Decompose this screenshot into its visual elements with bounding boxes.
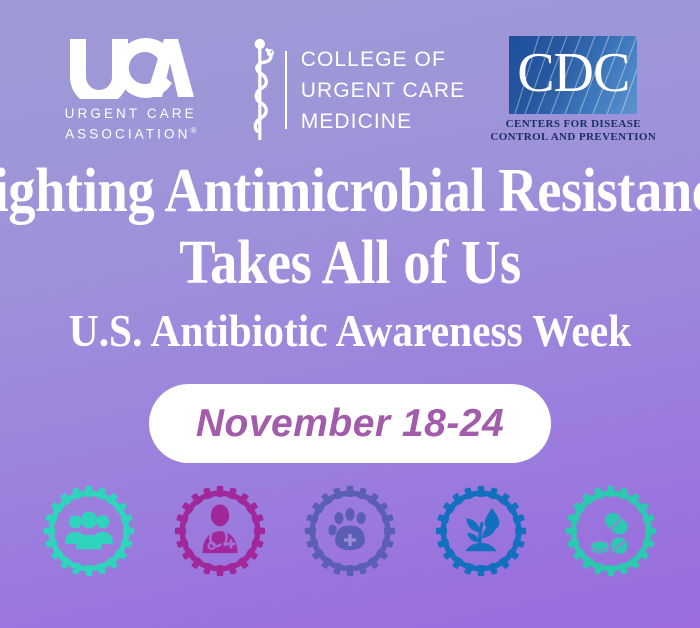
cucm-line-3: MEDICINE (301, 106, 466, 137)
cdc-tagline-line2: CONTROL AND PREVENTION (490, 131, 656, 145)
poster-headline: Fighting Antimicrobial Resistance Takes … (0, 155, 700, 299)
cdc-tagline: CENTERS FOR DISEASE CONTROL AND PREVENTI… (490, 118, 656, 145)
cucm-line-2: URGENT CARE (301, 75, 466, 106)
uca-subtitle: URGENT CARE ASSOCIATION® (65, 105, 197, 143)
college-of-urgent-care-medicine-logo: COLLEGE OF URGENT CARE MEDICINE (243, 38, 466, 142)
poster-subheadline: U.S. Antibiotic Awareness Week (0, 303, 700, 359)
subheadline-text: U.S. Antibiotic Awareness Week (0, 303, 700, 359)
headline-line-2: Takes All of Us (0, 227, 700, 299)
cdc-tagline-line1: CENTERS FOR DISEASE (490, 118, 656, 132)
cucm-text-block: COLLEGE OF URGENT CARE MEDICINE (301, 44, 466, 137)
theme-icon-row (0, 481, 700, 581)
cdc-acronym: CDC (509, 36, 637, 114)
cucm-line-1: COLLEGE OF (301, 44, 466, 75)
gear-people-icon (43, 485, 135, 577)
awareness-week-poster: URGENT CARE ASSOCIATION® COLLEGE OF URGE… (0, 0, 700, 628)
date-badge: November 18-24 (149, 384, 551, 463)
gear-plant-icon (435, 485, 527, 577)
cdc-logo: CDC CENTERS FOR DISEASE CONTROL AND PREV… (501, 36, 645, 145)
cdc-logo-square: CDC (509, 36, 637, 114)
gear-paw-icon (304, 485, 396, 577)
registered-mark-icon: ® (190, 126, 196, 135)
rod-of-asclepius-icon (243, 38, 277, 142)
date-badge-text: November 18-24 (196, 402, 504, 446)
partner-logo-bar: URGENT CARE ASSOCIATION® COLLEGE OF URGE… (0, 34, 700, 146)
gear-pills-icon (565, 485, 657, 577)
uca-wordmark-icon (68, 37, 194, 99)
logo-divider (285, 51, 287, 129)
headline-line-1: Fighting Antimicrobial Resistance (0, 155, 700, 227)
uca-logo: URGENT CARE ASSOCIATION® (55, 37, 207, 143)
uca-subtitle-line2: ASSOCIATION® (65, 122, 197, 143)
uca-subtitle-line1: URGENT CARE (65, 105, 197, 122)
gear-doctor-icon (174, 485, 266, 577)
